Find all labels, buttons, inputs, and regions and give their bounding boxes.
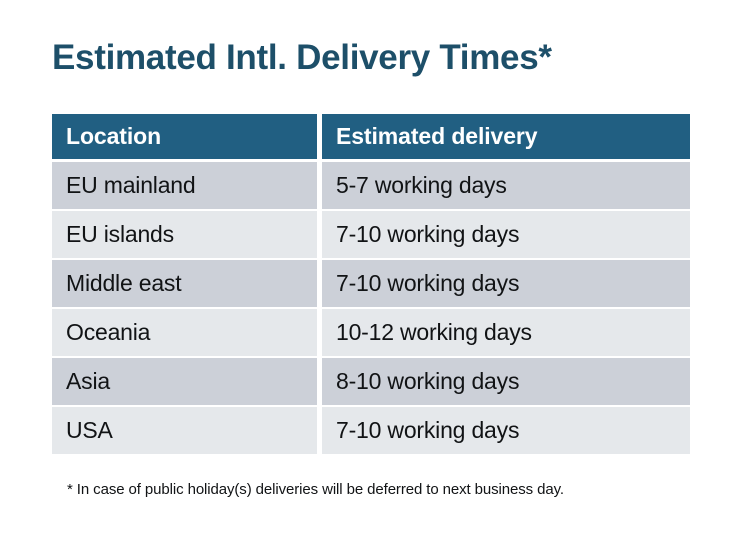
table-header-row: Location Estimated delivery (52, 114, 690, 159)
table-row: Middle east 7-10 working days (52, 260, 690, 307)
table-row: EU islands 7-10 working days (52, 211, 690, 258)
cell-estimated-delivery: 8-10 working days (322, 358, 690, 405)
cell-location: Oceania (52, 309, 317, 356)
cell-location: EU mainland (52, 162, 317, 209)
table-row: Oceania 10-12 working days (52, 309, 690, 356)
page-title: Estimated Intl. Delivery Times* (52, 36, 552, 80)
table-row: USA 7-10 working days (52, 407, 690, 454)
table-row: Asia 8-10 working days (52, 358, 690, 405)
cell-location: Asia (52, 358, 317, 405)
delivery-times-page: Estimated Intl. Delivery Times* Location… (0, 0, 745, 536)
cell-location: Middle east (52, 260, 317, 307)
cell-estimated-delivery: 5-7 working days (322, 162, 690, 209)
delivery-times-table: Location Estimated delivery EU mainland … (52, 114, 690, 456)
cell-estimated-delivery: 7-10 working days (322, 407, 690, 454)
cell-estimated-delivery: 7-10 working days (322, 211, 690, 258)
cell-location: USA (52, 407, 317, 454)
cell-estimated-delivery: 10-12 working days (322, 309, 690, 356)
table-row: EU mainland 5-7 working days (52, 162, 690, 209)
column-header-location: Location (52, 114, 317, 159)
cell-location: EU islands (52, 211, 317, 258)
cell-estimated-delivery: 7-10 working days (322, 260, 690, 307)
footnote-text: * In case of public holiday(s) deliverie… (67, 481, 564, 498)
column-header-estimated-delivery: Estimated delivery (322, 114, 690, 159)
